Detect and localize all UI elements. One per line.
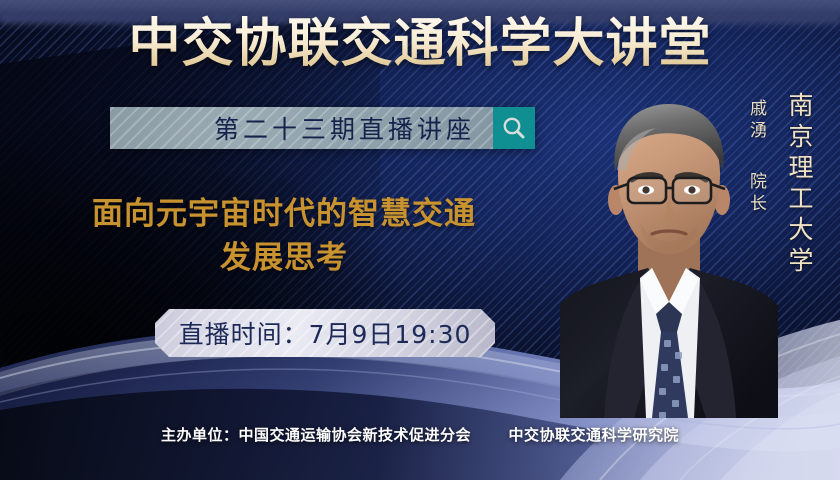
organizer-primary: 主办单位：中国交通运输协会新技术促进分会 [161,424,471,445]
poster-headline: 中交协联交通科学大讲堂 [0,14,840,74]
organizer-footer: 主办单位：中国交通运输协会新技术促进分会 中交协联交通科学研究院 [0,424,840,445]
search-icon[interactable] [493,107,535,149]
live-stream-poster: 中交协联交通科学大讲堂 第二十三期直播讲座 面向元宇宙时代的智慧交通 发展思考 … [0,0,840,480]
broadcast-time-label: 直播时间：7月9日19:30 [179,315,472,351]
speaker-university: 南京理工大学 [781,92,817,278]
series-label: 第二十三期直播讲座 [214,110,475,146]
lecture-title-line-2: 发展思考 [14,236,554,280]
broadcast-time-badge: 直播时间：7月9日19:30 [155,309,495,357]
speaker-name: 戚湧 [744,99,769,143]
speaker-role: 院长 [744,172,769,216]
series-bar: 第二十三期直播讲座 [110,107,535,149]
lecture-title: 面向元宇宙时代的智慧交通 发展思考 [14,192,554,280]
series-bar-background: 第二十三期直播讲座 [110,107,493,149]
lecture-title-line-1: 面向元宇宙时代的智慧交通 [92,196,476,232]
organizer-secondary: 中交协联交通科学研究院 [508,424,679,445]
